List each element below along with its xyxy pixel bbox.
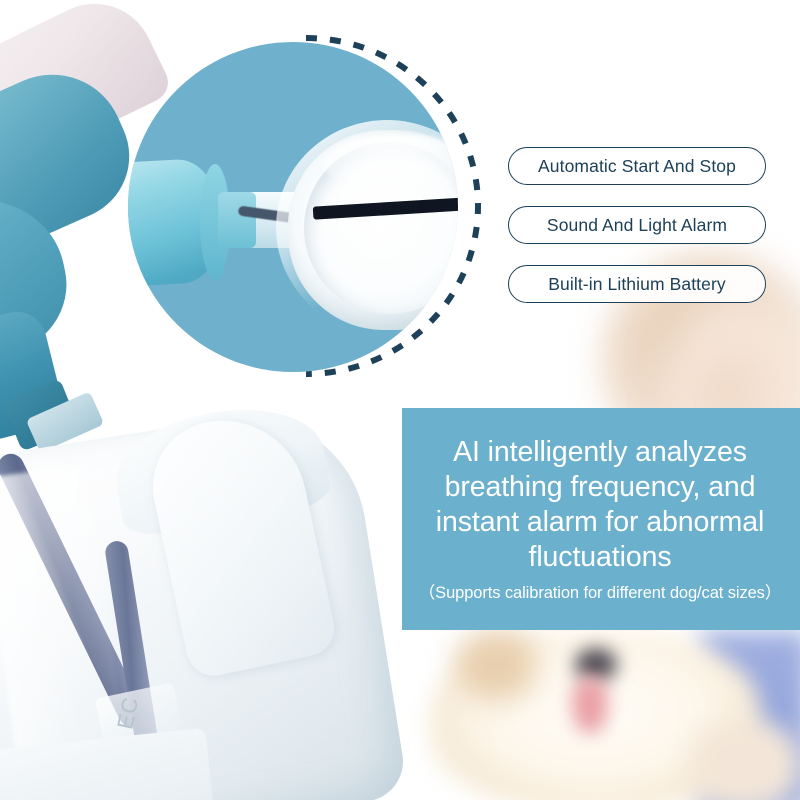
- feature-pill-list: Automatic Start And Stop Sound And Light…: [508, 147, 766, 324]
- promo-banner-page: EC Automatic Start And Stop Sound And Li…: [0, 0, 800, 800]
- feature-pill-auto-start-stop[interactable]: Automatic Start And Stop: [508, 147, 766, 185]
- blurred-dog-tongue: [572, 676, 608, 734]
- feature-pill-sound-light-alarm[interactable]: Sound And Light Alarm: [508, 206, 766, 244]
- product-photo: EC: [0, 0, 420, 800]
- blurred-dog-paw: [690, 720, 800, 800]
- feature-pill-lithium-battery[interactable]: Built-in Lithium Battery: [508, 265, 766, 303]
- blurred-dog-ear: [455, 630, 535, 700]
